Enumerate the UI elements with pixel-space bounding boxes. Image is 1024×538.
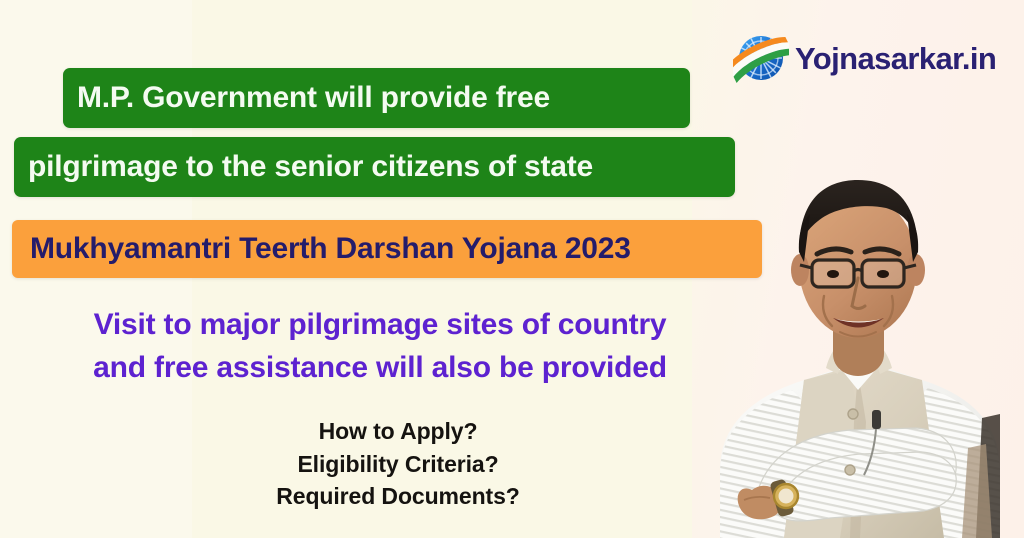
subtext-line-1: Visit to major pilgrimage sites of count… <box>0 304 760 347</box>
question-how-to-apply: How to Apply? <box>120 415 676 448</box>
subtext-block: Visit to major pilgrimage sites of count… <box>0 304 760 389</box>
headline-band-2: pilgrimage to the senior citizens of sta… <box>14 137 735 197</box>
headline-line-1: M.P. Government will provide free <box>77 81 550 115</box>
scheme-title: Mukhyamantri Teerth Darshan Yojana 2023 <box>30 232 631 266</box>
site-logo[interactable]: Yojnasarkar.in <box>733 30 996 86</box>
subtext-line-2: and free assistance will also be provide… <box>0 347 760 390</box>
question-eligibility-criteria: Eligibility Criteria? <box>120 448 676 481</box>
poster-canvas: Yojnasarkar.in M.P. Government will prov… <box>0 0 1024 538</box>
headline-band-1: M.P. Government will provide free <box>63 68 690 128</box>
indian-flag-ashoka-chakra-icon <box>733 30 789 86</box>
scheme-title-band: Mukhyamantri Teerth Darshan Yojana 2023 <box>12 220 762 278</box>
headline-line-2: pilgrimage to the senior citizens of sta… <box>28 150 593 184</box>
questions-block: How to Apply? Eligibility Criteria? Requ… <box>120 415 676 513</box>
question-required-documents: Required Documents? <box>120 480 676 513</box>
site-logo-text: Yojnasarkar.in <box>795 43 996 74</box>
